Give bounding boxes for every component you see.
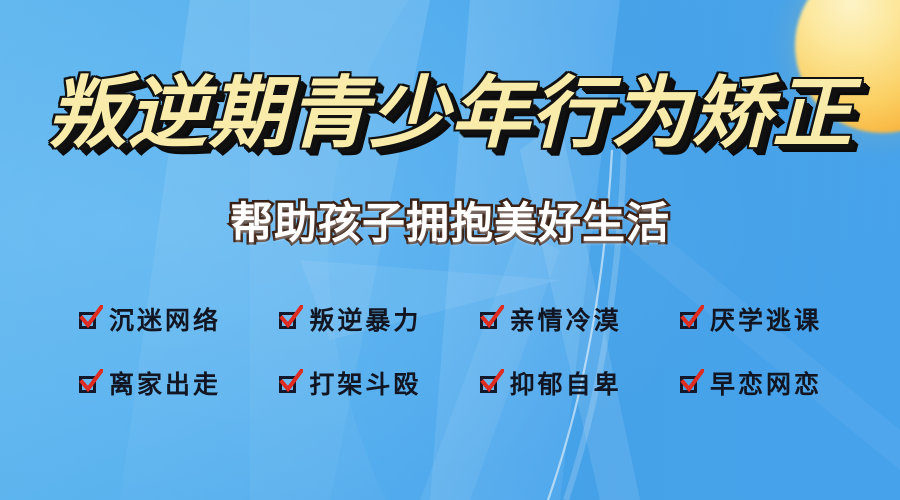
list-item[interactable]: 打架斗殴	[278, 370, 421, 400]
list-item-label: 抑郁自卑	[509, 370, 622, 400]
checked-checkbox-icon[interactable]	[278, 373, 303, 398]
checklist-row-2: 离家出走 打架斗殴 抑郁自卑	[78, 356, 822, 414]
page-subtitle: 帮助孩子拥抱美好生活	[0, 196, 900, 252]
checked-checkbox-icon[interactable]	[479, 373, 504, 398]
list-item-label: 离家出走	[108, 370, 221, 400]
page-title: 叛逆期青少年行为矫正	[0, 68, 900, 160]
list-item[interactable]: 早恋网恋	[679, 370, 822, 400]
symptom-checklist: 沉迷网络 叛逆暴力 亲情冷漠	[78, 292, 822, 414]
list-item-label: 早恋网恋	[709, 370, 822, 400]
list-item[interactable]: 抑郁自卑	[479, 370, 622, 400]
checklist-row-1: 沉迷网络 叛逆暴力 亲情冷漠	[78, 292, 822, 350]
list-item-label: 亲情冷漠	[509, 306, 622, 336]
list-item[interactable]: 叛逆暴力	[278, 306, 421, 336]
checked-checkbox-icon[interactable]	[679, 309, 704, 334]
promo-banner: 叛逆期青少年行为矫正 帮助孩子拥抱美好生活 沉迷网络 叛逆暴力	[0, 0, 900, 500]
checked-checkbox-icon[interactable]	[278, 309, 303, 334]
list-item-label: 叛逆暴力	[308, 306, 421, 336]
checked-checkbox-icon[interactable]	[479, 309, 504, 334]
list-item-label: 打架斗殴	[308, 370, 421, 400]
list-item-label: 沉迷网络	[108, 306, 221, 336]
list-item[interactable]: 沉迷网络	[78, 306, 221, 336]
checked-checkbox-icon[interactable]	[78, 373, 103, 398]
checked-checkbox-icon[interactable]	[78, 309, 103, 334]
list-item[interactable]: 亲情冷漠	[479, 306, 622, 336]
checked-checkbox-icon[interactable]	[679, 373, 704, 398]
list-item[interactable]: 厌学逃课	[679, 306, 822, 336]
list-item[interactable]: 离家出走	[78, 370, 221, 400]
list-item-label: 厌学逃课	[709, 306, 822, 336]
